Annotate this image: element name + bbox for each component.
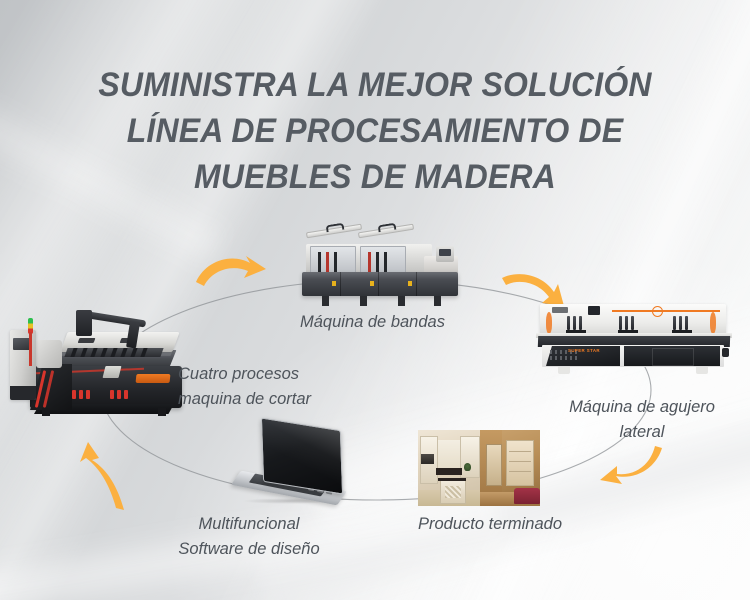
banding-foot: [360, 296, 367, 306]
label-edge-banding: Máquina de bandas: [300, 310, 445, 335]
living-room-interior-photo: [480, 430, 540, 506]
sidehole-orange-accent: [710, 312, 716, 334]
label-prod-line-1: Producto terminado: [418, 515, 562, 533]
edge-banding-machine-image: [296, 228, 464, 312]
arrow-product-to-software: [350, 520, 414, 538]
label-cnc-router: Cuatro procesos maquina de cortar: [178, 362, 311, 412]
sidehole-display: [588, 306, 600, 315]
machine-orange-accent: [136, 374, 171, 383]
cnc-router-machine-image: [8, 308, 194, 418]
machine-dust-drum: [36, 340, 62, 368]
kitchen-interior-photo: [418, 430, 480, 506]
machine-indicator-buttons: [70, 390, 140, 400]
arrow-software-to-cnc: [80, 442, 124, 510]
banding-mechanism: [368, 252, 371, 272]
machine-spindle-row: [64, 348, 163, 357]
label-soft-line-1: Multifuncional: [199, 515, 300, 533]
sidehole-brand-text: SUPER STAR: [568, 348, 600, 353]
banding-foot: [322, 296, 329, 306]
arrow-side-to-product: [600, 446, 662, 484]
sidehole-gauge-icon: [652, 306, 663, 317]
machine-control-pad: [103, 366, 122, 378]
banding-mechanism: [376, 252, 379, 272]
sidehole-orange-accent: [546, 312, 552, 334]
laptop-screen: [261, 417, 343, 494]
machine-control-cabinet: [10, 330, 36, 400]
banding-mechanism: [318, 252, 321, 272]
banding-mechanism: [334, 252, 337, 272]
finished-product-photos: [418, 430, 540, 506]
sidehole-foot: [558, 367, 570, 374]
banding-mechanism: [384, 252, 387, 272]
label-cnc-line-2: maquina de cortar: [178, 387, 311, 412]
label-side-line-1: Máquina de agujero: [569, 398, 715, 416]
machine-tower: [76, 310, 92, 336]
sidehole-brand-mark: [552, 307, 568, 313]
side-hole-drilling-machine-image: SUPER STAR: [536, 298, 734, 376]
banding-base-body: [302, 272, 458, 296]
banding-foot: [398, 296, 405, 306]
poster-canvas: SUMINISTRA LA MEJOR SOLUCIÓN LÍNEA DE PR…: [0, 0, 750, 600]
machine-leg: [42, 408, 50, 416]
sidehole-knob: [722, 348, 729, 357]
label-side-line-2: lateral: [562, 420, 722, 445]
label-design-software: Multifuncional Software de diseño: [168, 512, 330, 562]
banding-foot: [434, 296, 441, 306]
machine-leg: [158, 408, 166, 416]
arrow-cnc-to-band: [196, 256, 266, 286]
label-soft-line-2: Software de diseño: [168, 537, 330, 562]
banding-window: [360, 246, 406, 274]
sidehole-orange-rail: [612, 310, 720, 312]
machine-lamp-pole: [29, 332, 32, 366]
sidehole-side-panel: [624, 346, 720, 366]
label-finished-product: Producto terminado: [418, 512, 562, 537]
laptop-design-software-image: [236, 424, 348, 506]
banding-control-panel: [436, 246, 454, 262]
label-cnc-line-1: Cuatro procesos: [178, 365, 299, 383]
banding-window: [310, 246, 356, 274]
label-band-line-1: Máquina de bandas: [300, 313, 445, 331]
banding-mechanism: [326, 252, 329, 272]
sidehole-foot: [696, 367, 708, 374]
label-side-hole: Máquina de agujero lateral: [562, 395, 722, 445]
